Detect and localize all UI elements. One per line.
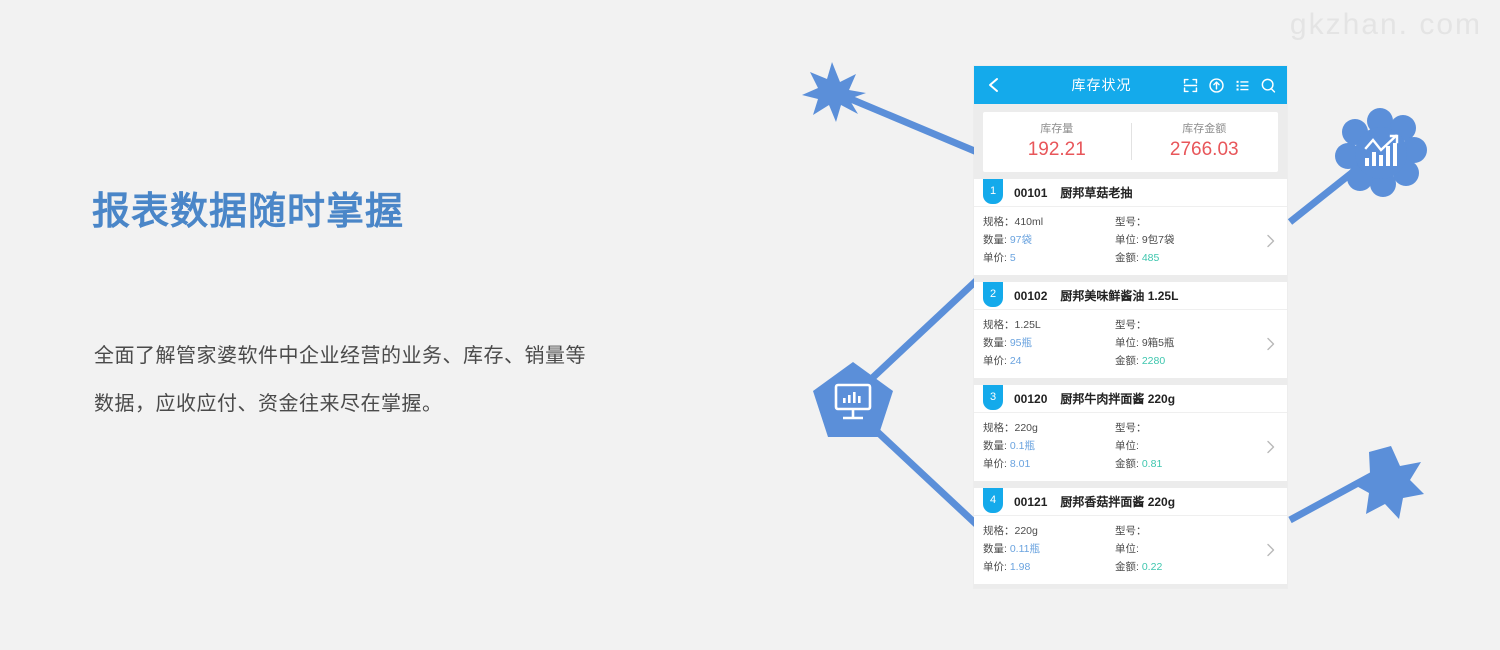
app-header: 库存状况 <box>974 66 1287 104</box>
detail-value: 2280 <box>1142 355 1165 367</box>
detail-value: 97袋 <box>1010 234 1032 246</box>
chevron-right-icon[interactable] <box>1266 337 1275 351</box>
detail-unit: 单位: <box>1115 540 1235 558</box>
list-item[interactable]: 2 00102 厨邦美味鲜酱油 1.25L 规格：1.25L 型号： 数量: 9… <box>974 282 1287 378</box>
detail-price: 单价: 24 <box>983 352 1115 370</box>
page-title: 报表数据随时掌握 <box>92 190 612 236</box>
product-name: 厨邦香菇拌面酱 220g <box>1060 493 1175 510</box>
summary-cell-stock-amount: 库存金额 2766.03 <box>1131 121 1279 162</box>
detail-qty: 数量: 0.11瓶 <box>983 540 1115 558</box>
detail-row: 单价: 1.98 金额: 0.22 <box>974 558 1287 576</box>
detail-value: 9包7袋 <box>1142 234 1175 246</box>
summary-label: 库存金额 <box>1131 121 1279 137</box>
product-name: 厨邦草菇老抽 <box>1060 184 1132 201</box>
detail-unit: 单位: 9箱5瓶 <box>1115 334 1235 352</box>
detail-label: 规格： <box>983 216 1015 228</box>
detail-label: 规格： <box>983 525 1015 537</box>
detail-value: 0.22 <box>1142 561 1162 573</box>
upload-circle-icon[interactable] <box>1208 77 1225 94</box>
detail-label: 单价: <box>983 561 1007 573</box>
list-item-details: 规格：410ml 型号： 数量: 97袋 单位: 9包7袋 <box>974 207 1287 275</box>
detail-spec: 规格：220g <box>983 419 1115 437</box>
detail-label: 金额: <box>1115 561 1139 573</box>
burst-badge <box>802 62 866 122</box>
list-item-details: 规格：220g 型号： 数量: 0.1瓶 单位: 单价 <box>974 413 1287 481</box>
detail-spec: 规格：1.25L <box>983 316 1115 334</box>
detail-label: 型号： <box>1115 216 1147 228</box>
product-code: 00101 <box>1014 186 1047 200</box>
detail-row: 规格：220g 型号： <box>974 419 1287 437</box>
detail-qty: 数量: 95瓶 <box>983 334 1115 352</box>
detail-value: 9箱5瓶 <box>1142 337 1175 349</box>
detail-value: 1.25L <box>1015 319 1041 331</box>
chevron-right-icon[interactable] <box>1266 440 1275 454</box>
summary-section: 库存量 192.21 库存金额 2766.03 <box>974 104 1287 179</box>
detail-row: 数量: 0.11瓶 单位: <box>974 540 1287 558</box>
detail-label: 型号： <box>1115 525 1147 537</box>
detail-value: 220g <box>1015 422 1038 434</box>
detail-row: 数量: 0.1瓶 单位: <box>974 437 1287 455</box>
scan-icon[interactable] <box>1182 77 1199 94</box>
connector-line-right-upper <box>1290 160 1368 222</box>
connector-line-mid-upper <box>868 280 977 382</box>
list-item-header: 4 00121 厨邦香菇拌面酱 220g <box>974 488 1287 516</box>
detail-value: 8.01 <box>1010 458 1030 470</box>
connector-line-top <box>834 92 977 152</box>
detail-value: 5 <box>1010 252 1016 264</box>
chevron-left-icon[interactable] <box>984 75 1004 95</box>
detail-amount: 金额: 0.81 <box>1115 455 1235 473</box>
detail-model: 型号： <box>1115 213 1235 231</box>
connector-line-right-lower <box>1290 470 1382 520</box>
search-icon[interactable] <box>1260 77 1277 94</box>
detail-spec: 规格：220g <box>983 522 1115 540</box>
product-code: 00121 <box>1014 495 1047 509</box>
pentagon-badge <box>813 362 893 437</box>
list-icon[interactable] <box>1234 77 1251 94</box>
chevron-right-icon[interactable] <box>1266 543 1275 557</box>
detail-value: 485 <box>1142 252 1160 264</box>
detail-label: 型号： <box>1115 319 1147 331</box>
list-item-header: 1 00101 厨邦草菇老抽 <box>974 179 1287 207</box>
detail-model: 型号： <box>1115 522 1235 540</box>
detail-label: 金额: <box>1115 252 1139 264</box>
detail-value: 95瓶 <box>1010 337 1032 349</box>
detail-row: 单价: 8.01 金额: 0.81 <box>974 455 1287 473</box>
list-item[interactable]: 4 00121 厨邦香菇拌面酱 220g 规格：220g 型号： 数量: 0.1… <box>974 488 1287 584</box>
summary-card: 库存量 192.21 库存金额 2766.03 <box>983 112 1278 172</box>
product-list: 1 00101 厨邦草菇老抽 规格：410ml 型号： 数量: 97袋 <box>974 179 1287 588</box>
detail-row: 数量: 95瓶 单位: 9箱5瓶 <box>974 334 1287 352</box>
detail-model: 型号： <box>1115 419 1235 437</box>
star-badge <box>1351 446 1424 519</box>
detail-label: 型号： <box>1115 422 1147 434</box>
list-item-details: 规格：1.25L 型号： 数量: 95瓶 单位: 9箱5瓶 <box>974 310 1287 378</box>
app-title: 库存状况 <box>1004 75 1173 95</box>
detail-row: 单价: 5 金额: 485 <box>974 249 1287 267</box>
detail-qty: 数量: 0.1瓶 <box>983 437 1115 455</box>
detail-row: 单价: 24 金额: 2280 <box>974 352 1287 370</box>
list-item-header: 2 00102 厨邦美味鲜酱油 1.25L <box>974 282 1287 310</box>
detail-price: 单价: 5 <box>983 249 1115 267</box>
detail-value: 0.11瓶 <box>1010 543 1040 555</box>
detail-label: 数量: <box>983 440 1007 452</box>
detail-value: 0.81 <box>1142 458 1162 470</box>
chevron-right-icon[interactable] <box>1266 234 1275 248</box>
detail-label: 单价: <box>983 355 1007 367</box>
product-name: 厨邦美味鲜酱油 1.25L <box>1060 287 1178 304</box>
summary-value: 2766.03 <box>1131 138 1279 162</box>
detail-label: 规格： <box>983 319 1015 331</box>
detail-label: 单位: <box>1115 543 1139 555</box>
phone-screen: 库存状况 库存量 <box>974 66 1287 588</box>
detail-label: 单位: <box>1115 337 1139 349</box>
detail-value: 410ml <box>1015 216 1044 228</box>
detail-amount: 金额: 485 <box>1115 249 1235 267</box>
detail-amount: 金额: 2280 <box>1115 352 1235 370</box>
detail-price: 单价: 1.98 <box>983 558 1115 576</box>
detail-label: 单位: <box>1115 234 1139 246</box>
detail-value: 1.98 <box>1010 561 1030 573</box>
detail-qty: 数量: 97袋 <box>983 231 1115 249</box>
detail-label: 数量: <box>983 234 1007 246</box>
promo-description: 全面了解管家婆软件中企业经营的业务、库存、销量等数据，应收应付、资金往来尽在掌握… <box>94 332 594 428</box>
list-item-header: 3 00120 厨邦牛肉拌面酱 220g <box>974 385 1287 413</box>
detail-unit: 单位: 9包7袋 <box>1115 231 1235 249</box>
detail-label: 单价: <box>983 458 1007 470</box>
detail-price: 单价: 8.01 <box>983 455 1115 473</box>
detail-row: 规格：1.25L 型号： <box>974 316 1287 334</box>
detail-label: 数量: <box>983 543 1007 555</box>
detail-label: 单价: <box>983 252 1007 264</box>
summary-label: 库存量 <box>983 121 1131 137</box>
detail-label: 单位: <box>1115 440 1139 452</box>
detail-value: 220g <box>1015 525 1038 537</box>
product-name: 厨邦牛肉拌面酱 220g <box>1060 390 1175 407</box>
rank-badge: 3 <box>983 385 1003 410</box>
list-item[interactable]: 3 00120 厨邦牛肉拌面酱 220g 规格：220g 型号： 数量: 0.1… <box>974 385 1287 481</box>
list-item[interactable]: 1 00101 厨邦草菇老抽 规格：410ml 型号： 数量: 97袋 <box>974 179 1287 275</box>
site-watermark: gkzhan. com <box>1290 8 1482 42</box>
promo-text-block: 报表数据随时掌握 全面了解管家婆软件中企业经营的业务、库存、销量等数据，应收应付… <box>92 190 612 236</box>
detail-label: 金额: <box>1115 355 1139 367</box>
rank-badge: 4 <box>983 488 1003 513</box>
detail-row: 数量: 97袋 单位: 9包7袋 <box>974 231 1287 249</box>
connector-line-mid-lower <box>870 425 977 525</box>
detail-row: 规格：220g 型号： <box>974 522 1287 540</box>
detail-model: 型号： <box>1115 316 1235 334</box>
rank-badge: 1 <box>983 179 1003 204</box>
detail-unit: 单位: <box>1115 437 1235 455</box>
scalloped-badge <box>1335 108 1427 197</box>
detail-value: 24 <box>1010 355 1022 367</box>
product-code: 00120 <box>1014 392 1047 406</box>
detail-label: 数量: <box>983 337 1007 349</box>
detail-row: 规格：410ml 型号： <box>974 213 1287 231</box>
list-item-details: 规格：220g 型号： 数量: 0.11瓶 单位: 单 <box>974 516 1287 584</box>
rank-badge: 2 <box>983 282 1003 307</box>
detail-value: 0.1瓶 <box>1010 440 1035 452</box>
detail-amount: 金额: 0.22 <box>1115 558 1235 576</box>
detail-label: 规格： <box>983 422 1015 434</box>
summary-cell-stock-qty: 库存量 192.21 <box>983 121 1131 162</box>
summary-value: 192.21 <box>983 138 1131 162</box>
detail-spec: 规格：410ml <box>983 213 1115 231</box>
detail-label: 金额: <box>1115 458 1139 470</box>
product-code: 00102 <box>1014 289 1047 303</box>
